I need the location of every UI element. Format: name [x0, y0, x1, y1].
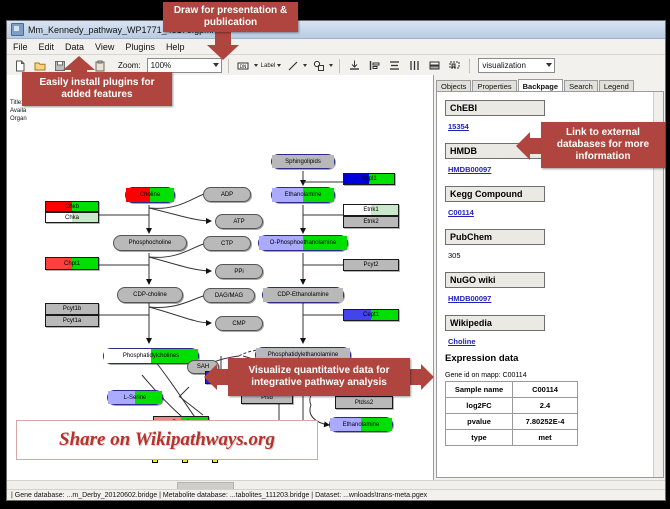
db-link-chebi[interactable]: 15354: [448, 122, 469, 131]
db-name-nugo: NuGO wiki: [445, 272, 545, 288]
node-adp[interactable]: ADP: [203, 187, 251, 202]
node-cdp-ethanolamine[interactable]: CDP-Ethanolamine: [262, 287, 344, 303]
node-phosphatidylcholines[interactable]: Phosphatidylcholines: [103, 348, 199, 364]
node-label: CTP: [221, 241, 233, 247]
node-ptdss2[interactable]: Ptdss2: [335, 396, 393, 409]
zoom-label: Zoom:: [118, 61, 141, 70]
node-label: Chpt1: [64, 261, 80, 267]
node-ethanolamine-bottom[interactable]: Ethanolamine: [329, 417, 393, 432]
node-ctp[interactable]: CTP: [203, 236, 251, 251]
node-l-serine-left[interactable]: L-Serine: [107, 390, 163, 405]
side-panel-tabs: Objects Properties Backpage Search Legen…: [436, 78, 662, 92]
node-label: Ptdss2: [355, 400, 373, 406]
group-icon[interactable]: [446, 57, 463, 74]
meta-availability-label: Availa: [10, 107, 27, 115]
chevron-down-icon[interactable]: [329, 64, 333, 67]
node-ethanolamine-top[interactable]: Ethanolamine: [271, 187, 335, 203]
share-banner: Share on Wikipathways.org: [16, 420, 318, 460]
node-ppi[interactable]: PPi: [215, 264, 263, 279]
node-choline-top[interactable]: Choline: [125, 187, 175, 203]
node-chka[interactable]: Chka: [45, 212, 99, 223]
callout-visualize: Visualize quantitative data for integrat…: [228, 358, 410, 396]
chevron-down-icon: [213, 63, 219, 67]
db-link-nugo[interactable]: HMDB00097: [448, 294, 491, 303]
menu-edit[interactable]: Edit: [38, 42, 56, 52]
node-label: ATP: [233, 219, 244, 225]
callout-plugins: Easily install plugins for added feature…: [22, 72, 172, 106]
node-label: Ethanolamine: [343, 422, 380, 428]
visualization-combo[interactable]: visualization: [478, 58, 555, 73]
menu-plugins[interactable]: Plugins: [124, 42, 156, 52]
node-label: Pcyt2: [363, 262, 378, 268]
exp-value: 2.4: [513, 398, 578, 414]
line-icon[interactable]: [284, 57, 301, 74]
callout-draw-arrow: [205, 31, 241, 61]
db-block-wikipedia: Wikipedia Choline: [445, 315, 663, 349]
node-etnk1[interactable]: Etnk1: [343, 204, 399, 216]
node-label: Etnk2: [363, 219, 378, 225]
node-label: Phosphatidylcholines: [123, 353, 179, 359]
shape-icon[interactable]: [310, 57, 327, 74]
node-o-phosphoethanolamine[interactable]: O-Phosphoethanolamine: [258, 235, 348, 251]
node-cmp[interactable]: CMP: [215, 316, 263, 331]
callout-links-text: Link to external databases for more info…: [545, 127, 661, 163]
node-label: DAG/MAG: [215, 293, 243, 299]
statusbar-text: | Gene database: ...m_Derby_20120602.bri…: [11, 492, 427, 499]
db-link-hmdb[interactable]: HMDB00097: [448, 165, 491, 174]
align-middle-icon[interactable]: [386, 57, 403, 74]
chevron-down-icon[interactable]: [303, 64, 307, 67]
stack-icon[interactable]: [426, 57, 443, 74]
node-label: Sphingolipids: [285, 159, 321, 165]
exp-key: type: [446, 430, 513, 446]
screenshot-root: Mm_Kennedy_pathway_WP1771_45176.gpml Fil…: [0, 0, 670, 509]
label-tool[interactable]: Label: [261, 63, 282, 69]
node-label: Sgpl1: [361, 176, 376, 182]
label-tool-text: Label: [261, 63, 276, 69]
menu-data[interactable]: Data: [64, 42, 85, 52]
toolbar-separator: [339, 59, 340, 73]
callout-links: Link to external databases for more info…: [541, 122, 665, 168]
table-row: type met: [446, 430, 578, 446]
chevron-down-icon: [546, 63, 552, 67]
node-cept1[interactable]: Cept1: [343, 309, 399, 321]
db-block-pubchem: PubChem 305: [445, 229, 663, 263]
toolbar-separator: [469, 59, 470, 73]
callout-visualize-text: Visualize quantitative data for integrat…: [232, 365, 406, 389]
shape-tool[interactable]: [310, 57, 333, 74]
db-value-pubchem: 305: [448, 251, 461, 260]
node-label: PPi: [234, 269, 243, 275]
align-left-icon[interactable]: [366, 57, 383, 74]
line-tool[interactable]: [284, 57, 307, 74]
exp-key: pvalue: [446, 414, 513, 430]
db-name-wikipedia: Wikipedia: [445, 315, 545, 331]
exp-value: met: [513, 430, 578, 446]
db-block-nugo: NuGO wiki HMDB00097: [445, 272, 663, 306]
distribute-icon[interactable]: [406, 57, 423, 74]
callout-draw-text: Draw for presentation & publication: [167, 5, 294, 29]
align-top-icon[interactable]: [346, 57, 363, 74]
node-atp[interactable]: ATP: [215, 214, 263, 229]
callout-plugins-text: Easily install plugins for added feature…: [26, 77, 168, 101]
node-label: CDP-choline: [133, 292, 167, 298]
db-link-wikipedia[interactable]: Choline: [448, 337, 476, 346]
node-label: Choline: [140, 192, 160, 198]
exp-value: 7.80252E-4: [513, 414, 578, 430]
chevron-down-icon[interactable]: [277, 64, 281, 67]
callout-visualize-arrow-right: [406, 364, 670, 390]
statusbar: | Gene database: ...m_Derby_20120602.bri…: [7, 489, 666, 501]
db-link-kegg[interactable]: C00114: [448, 208, 474, 217]
node-label: Ethanolamine: [285, 192, 322, 198]
node-pcyt1b[interactable]: Pcyt1b: [45, 303, 99, 315]
table-row: log2FC 2.4: [446, 398, 578, 414]
share-banner-text: Share on Wikipathways.org: [59, 429, 275, 451]
expression-data-title: Expression data: [445, 353, 663, 364]
node-chkb[interactable]: Chkb: [45, 201, 99, 212]
node-label: Phosphocholine: [129, 240, 172, 246]
zoom-value: 100%: [151, 61, 171, 70]
node-chpt1[interactable]: Chpt1: [45, 257, 99, 270]
db-name-pubchem: PubChem: [445, 229, 545, 245]
db-name-chebi: ChEBI: [445, 100, 545, 116]
node-sgpl1[interactable]: Sgpl1: [343, 173, 395, 185]
db-block-kegg: Kegg Compound C00114: [445, 186, 663, 220]
menubar: File Edit Data View Plugins Help: [7, 39, 665, 55]
chevron-down-icon[interactable]: [254, 64, 258, 67]
node-label: Cept1: [363, 312, 379, 318]
node-etnk2[interactable]: Etnk2: [343, 216, 399, 228]
visualization-value: visualization: [482, 61, 526, 70]
menu-file[interactable]: File: [12, 42, 29, 52]
svg-text:DN: DN: [240, 63, 247, 69]
db-name-kegg: Kegg Compound: [445, 186, 545, 202]
meta-organism-label: Organ: [10, 115, 27, 123]
callout-links-arrow: [516, 132, 544, 160]
node-sphingolipids[interactable]: Sphingolipids: [271, 154, 335, 169]
node-label: L-Serine: [124, 395, 147, 401]
node-label: CMP: [232, 321, 245, 327]
window-titlebar: Mm_Kennedy_pathway_WP1771_45176.gpml: [7, 21, 665, 39]
node-label: Etnk1: [363, 207, 378, 213]
node-label: Chka: [65, 215, 79, 221]
node-cdp-choline[interactable]: CDP-choline: [117, 287, 183, 303]
tab-backpage[interactable]: Backpage: [518, 79, 563, 93]
callout-draw: Draw for presentation & publication: [163, 2, 298, 32]
node-label: Chkb: [65, 204, 79, 210]
expression-table: Sample name C00114 log2FC 2.4 pvalue 7.8…: [445, 381, 578, 446]
node-pcyt1a[interactable]: Pcyt1a: [45, 315, 99, 327]
node-label: ADP: [221, 192, 233, 198]
node-pcyt2[interactable]: Pcyt2: [343, 259, 399, 271]
menu-view[interactable]: View: [94, 42, 115, 52]
app-icon: [11, 23, 24, 36]
table-row: pvalue 7.80252E-4: [446, 414, 578, 430]
node-label: CDP-Ethanolamine: [277, 292, 328, 298]
node-phosphocholine[interactable]: Phosphocholine: [113, 235, 187, 251]
menu-help[interactable]: Help: [165, 42, 186, 52]
node-label: Pcyt1a: [63, 318, 81, 324]
node-dagmag[interactable]: DAG/MAG: [203, 288, 255, 303]
node-label: Pcyt1b: [63, 306, 81, 312]
node-label: O-Phosphoethanolamine: [270, 240, 336, 246]
exp-key: log2FC: [446, 398, 513, 414]
